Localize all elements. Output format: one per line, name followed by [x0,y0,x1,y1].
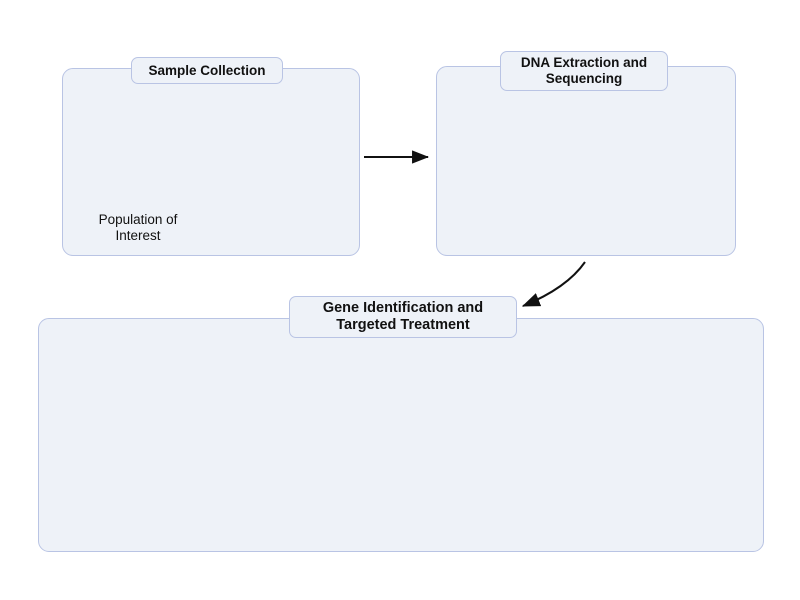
arrow-dna-to-gene [523,262,585,306]
title-line-2: Sequencing [546,71,623,86]
population-caption: Population of Interest [78,212,198,244]
panel-gene-identification [38,318,764,552]
title-line-2: Targeted Treatment [336,317,470,333]
panel-title-sample-collection: Sample Collection [131,57,283,84]
title-line-1: Gene Identification and [323,300,483,316]
panel-title-gene-identification: Gene Identification and Targeted Treatme… [289,296,517,338]
caption-line-1: Population of [99,212,178,227]
title-line-1: DNA Extraction and [521,55,647,70]
caption-line-2: Interest [115,228,160,243]
panel-title-dna-extraction: DNA Extraction and Sequencing [500,51,668,91]
panel-dna-extraction [436,66,736,256]
